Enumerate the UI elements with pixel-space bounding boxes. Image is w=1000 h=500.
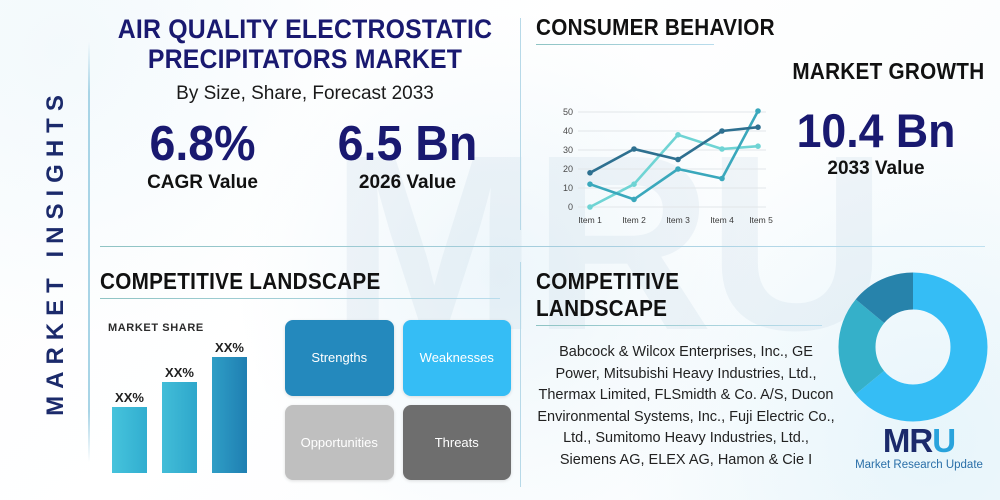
consumer-behavior-underline xyxy=(536,44,714,45)
svg-text:50: 50 xyxy=(563,107,573,117)
chart-gridlines xyxy=(578,112,766,207)
svg-text:0: 0 xyxy=(568,202,573,212)
horizontal-divider xyxy=(100,246,985,247)
market-growth-heading: MARKET GROWTH xyxy=(792,58,984,85)
logo-mark-left: MR xyxy=(883,422,932,459)
consumer-behavior-panel: CONSUMER BEHAVIOR MARKET GROWTH 50 40 30… xyxy=(536,14,988,239)
bar-1-label: XX% xyxy=(115,390,144,405)
bar-3 xyxy=(212,357,247,473)
bar-3-label: XX% xyxy=(215,340,244,355)
chart-y-tick-labels: 50 40 30 20 10 0 xyxy=(563,107,573,212)
sidebar-rail: MARKET INSIGHTS xyxy=(18,0,88,500)
competitive-left-heading: COMPETITIVE LANDSCAPE xyxy=(100,268,381,295)
stat-cagr: 6.8% CAGR Value xyxy=(100,118,305,194)
stat-2026: 6.5 Bn 2026 Value xyxy=(305,118,510,194)
swot-opportunities-label: Opportunities xyxy=(301,435,378,450)
competitive-landscape-right-panel: COMPETITIVE LANDSCAPE Babcock & Wilcox E… xyxy=(536,268,836,490)
chart-x-tick-labels: Item 1 Item 2 Item 3 Item 4 Item 5 xyxy=(578,215,773,225)
vertical-divider-bottom xyxy=(520,262,521,487)
logo-mark: MRU xyxy=(883,424,955,458)
sidebar-divider xyxy=(88,42,90,462)
key-players-list: Babcock & Wilcox Enterprises, Inc., GE P… xyxy=(536,342,836,471)
stat-cagr-value: 6.8% xyxy=(105,118,300,171)
stat-cagr-label: CAGR Value xyxy=(100,172,305,194)
bar-2 xyxy=(162,382,197,473)
competitive-left-underline xyxy=(100,298,500,299)
market-share-bar-chart: XX% XX% XX% xyxy=(100,318,280,478)
market-segment-donut-chart xyxy=(838,272,988,424)
swot-threats-label: Threats xyxy=(435,435,479,450)
swot-grid: Strengths Weaknesses Opportunities Threa… xyxy=(285,320,511,480)
consumer-behavior-heading: CONSUMER BEHAVIOR xyxy=(536,14,775,41)
svg-text:20: 20 xyxy=(563,164,573,174)
swot-opportunities[interactable]: Opportunities xyxy=(285,405,394,481)
stat-2026-value: 6.5 Bn xyxy=(310,118,505,171)
svg-text:Item 2: Item 2 xyxy=(622,215,646,225)
svg-text:Item 1: Item 1 xyxy=(578,215,602,225)
headline-panel: AIR QUALITY ELECTROSTATIC PRECIPITATORS … xyxy=(100,14,510,239)
swot-threats[interactable]: Threats xyxy=(403,405,512,481)
infographic-root: MRU MARKET INSIGHTS AIR QUALITY ELECTROS… xyxy=(0,0,1000,500)
competitive-landscape-left-panel: COMPETITIVE LANDSCAPE MARKET SHARE XX% xyxy=(100,268,510,490)
page-subtitle: By Size, Share, Forecast 2033 xyxy=(100,83,510,105)
mru-logo: MRU Market Research Update xyxy=(846,424,992,471)
competitive-right-heading: COMPETITIVE LANDSCAPE xyxy=(536,268,806,322)
bar-1 xyxy=(112,407,147,473)
headline-stats: 6.8% CAGR Value 6.5 Bn 2026 Value xyxy=(100,118,510,194)
stat-2026-label: 2026 Value xyxy=(305,172,510,194)
svg-text:40: 40 xyxy=(563,126,573,136)
swot-weaknesses-label: Weaknesses xyxy=(420,350,494,365)
vertical-divider-top xyxy=(520,18,521,230)
consumer-behavior-line-chart: 50 40 30 20 10 0 Item 1 Item 2 Item 3 It… xyxy=(542,102,774,230)
logo-subtitle: Market Research Update xyxy=(846,459,992,471)
swot-strengths[interactable]: Strengths xyxy=(285,320,394,396)
svg-text:Item 4: Item 4 xyxy=(710,215,734,225)
market-growth-label: 2033 Value xyxy=(770,158,982,180)
page-title: AIR QUALITY ELECTROSTATIC PRECIPITATORS … xyxy=(116,14,493,74)
svg-text:30: 30 xyxy=(563,145,573,155)
market-growth-value: 10.4 Bn xyxy=(775,106,976,156)
svg-text:Item 3: Item 3 xyxy=(666,215,690,225)
swot-weaknesses[interactable]: Weaknesses xyxy=(403,320,512,396)
competitive-right-underline xyxy=(536,325,822,326)
bar-2-label: XX% xyxy=(165,365,194,380)
svg-text:10: 10 xyxy=(563,183,573,193)
market-growth-stat: 10.4 Bn 2033 Value xyxy=(770,106,982,180)
logo-mark-right: U xyxy=(932,422,955,459)
swot-strengths-label: Strengths xyxy=(311,350,367,365)
sidebar-label: MARKET INSIGHTS xyxy=(42,42,70,462)
svg-text:Item 5: Item 5 xyxy=(749,215,773,225)
